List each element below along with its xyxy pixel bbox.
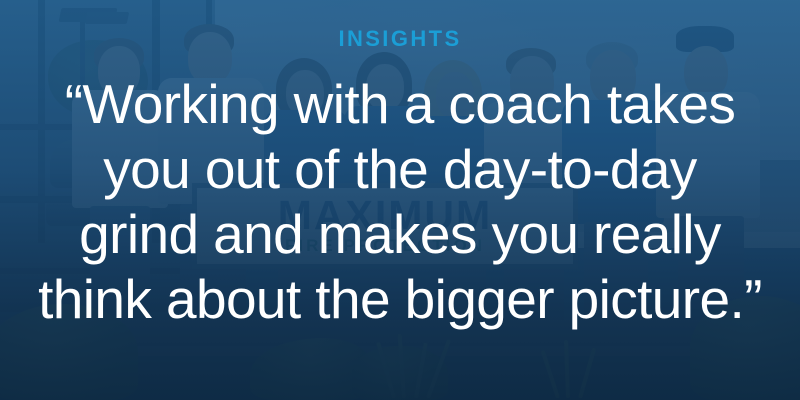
card-content: INSIGHTS “Working with a coach takes you…	[0, 0, 800, 400]
insights-quote-card: MAXIMUM FIRE PROTECTION INSIGHTS “Workin…	[0, 0, 800, 400]
quote-text: “Working with a coach takes you out of t…	[20, 72, 780, 332]
eyebrow-label: INSIGHTS	[338, 28, 461, 50]
